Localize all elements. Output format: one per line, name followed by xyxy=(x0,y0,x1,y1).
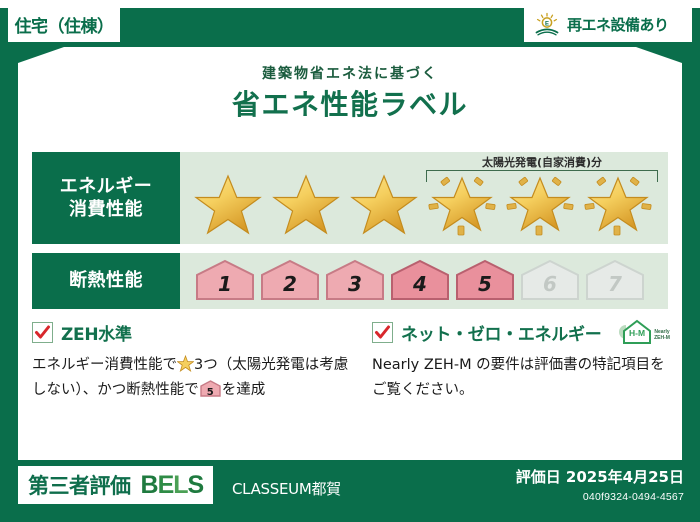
category-badge-label: 住宅（住棟） xyxy=(15,12,114,37)
insulation-level-number: 4 xyxy=(389,272,451,296)
insulation-level-chip: 6 xyxy=(519,259,581,303)
svg-text:H-M: H-M xyxy=(629,328,645,338)
energy-performance-body: 太陽光発電(自家消費)分 xyxy=(180,152,668,244)
insulation-level-scale: 1 2 3 4 xyxy=(180,259,646,303)
insulation-level-number: 1 xyxy=(194,272,256,296)
insulation-level-number: 6 xyxy=(519,272,581,296)
zeh-standard-body: エネルギー消費性能で 3つ（太陽光発電は考慮しない）、かつ断熱性能で 5 を達成 xyxy=(32,353,354,403)
insulation-performance-body: 1 2 3 4 xyxy=(180,253,668,309)
star-icon xyxy=(268,166,344,238)
insulation-level-number: 3 xyxy=(324,272,386,296)
zeh-standard-header: ZEH水準 xyxy=(32,319,354,345)
net-zero-energy-header: ネット・ゼロ・エネルギー H-M Nearly ZEH-M xyxy=(372,319,677,345)
check-icon xyxy=(372,322,393,343)
energy-performance-label: 住宅（住棟） E 再エネ設備あり 建築物省エネ法に基づく 省エネ性能ラ xyxy=(0,0,700,522)
bels-logo: BELS xyxy=(141,471,204,500)
insulation-performance-row: 断熱性能 1 2 3 xyxy=(32,253,668,309)
insulation-level-number: 7 xyxy=(584,272,646,296)
star-rating xyxy=(180,166,656,238)
zeh-body-part-a: エネルギー消費性能で xyxy=(32,357,177,373)
svg-text:E: E xyxy=(545,22,549,28)
net-zero-energy-title: ネット・ゼロ・エネルギー xyxy=(401,320,601,345)
insulation-level-number: 5 xyxy=(454,272,516,296)
insulation-performance-label-box: 断熱性能 xyxy=(32,253,180,309)
star-icon-solar xyxy=(424,166,500,238)
star-icon xyxy=(346,166,422,238)
bels-plate: 第三者評価 BELS xyxy=(18,466,213,504)
label-subtitle: 建築物省エネ法に基づく xyxy=(18,63,682,83)
insulation-level-chip: 2 xyxy=(259,259,321,303)
building-name: CLASSEUM都賀 xyxy=(232,478,341,499)
svg-text:ZEH-M: ZEH-M xyxy=(654,335,670,341)
renewable-equipment-badge: E 再エネ設備あり xyxy=(524,6,692,42)
third-party-eval-label: 第三者評価 xyxy=(28,470,131,500)
category-badge: 住宅（住棟） xyxy=(8,6,120,42)
energy-label-line1: エネルギー xyxy=(60,175,153,198)
main-panel: 建築物省エネ法に基づく 省エネ性能ラベル エネルギー 消費性能 太陽光発電(自家… xyxy=(18,47,682,456)
footer-divider xyxy=(18,456,682,460)
certification-checks: ZEH水準 エネルギー消費性能で 3つ（太陽光発電は考慮しない）、かつ断熱性能で… xyxy=(32,319,668,439)
star-icon-solar xyxy=(580,166,656,238)
zeh-standard-block: ZEH水準 エネルギー消費性能で 3つ（太陽光発電は考慮しない）、かつ断熱性能で… xyxy=(32,319,354,439)
inline-level-number: 5 xyxy=(199,384,222,401)
inline-star-icon xyxy=(177,355,194,372)
evaluation-info: 評価日 2025年4月25日 040f9324-0494-4567 xyxy=(516,466,684,503)
net-zero-energy-block: ネット・ゼロ・エネルギー H-M Nearly ZEH-M Nearly ZEH… xyxy=(372,319,677,439)
energy-performance-label-box: エネルギー 消費性能 xyxy=(32,152,180,244)
insulation-level-chip: 3 xyxy=(324,259,386,303)
check-icon xyxy=(32,322,53,343)
renewable-badge-label: 再エネ設備あり xyxy=(567,14,669,35)
insulation-level-chip: 5 xyxy=(454,259,516,303)
insulation-level-number: 2 xyxy=(259,272,321,296)
nearly-zeh-m-logo-icon: H-M Nearly ZEH-M xyxy=(615,318,677,346)
star-icon xyxy=(190,166,266,238)
energy-performance-row: エネルギー 消費性能 太陽光発電(自家消費)分 xyxy=(32,152,668,244)
insulation-level-chip: 1 xyxy=(194,259,256,303)
insulation-level-chip: 7 xyxy=(584,259,646,303)
label-title: 省エネ性能ラベル xyxy=(18,83,682,123)
energy-label-line2: 消費性能 xyxy=(69,198,143,221)
star-icon-solar xyxy=(502,166,578,238)
zeh-standard-title: ZEH水準 xyxy=(61,320,132,345)
net-zero-energy-body: Nearly ZEH-M の要件は評価書の特記項目をご覧ください。 xyxy=(372,353,677,403)
zeh-body-part-c: を達成 xyxy=(222,382,266,398)
sun-icon: E xyxy=(534,12,560,36)
insulation-level-chip: 4 xyxy=(389,259,451,303)
insulation-label: 断熱性能 xyxy=(69,269,143,292)
inline-level-badge: 5 xyxy=(199,380,222,397)
evaluation-date: 評価日 2025年4月25日 xyxy=(516,466,684,487)
evaluation-id: 040f9324-0494-4567 xyxy=(516,491,684,503)
